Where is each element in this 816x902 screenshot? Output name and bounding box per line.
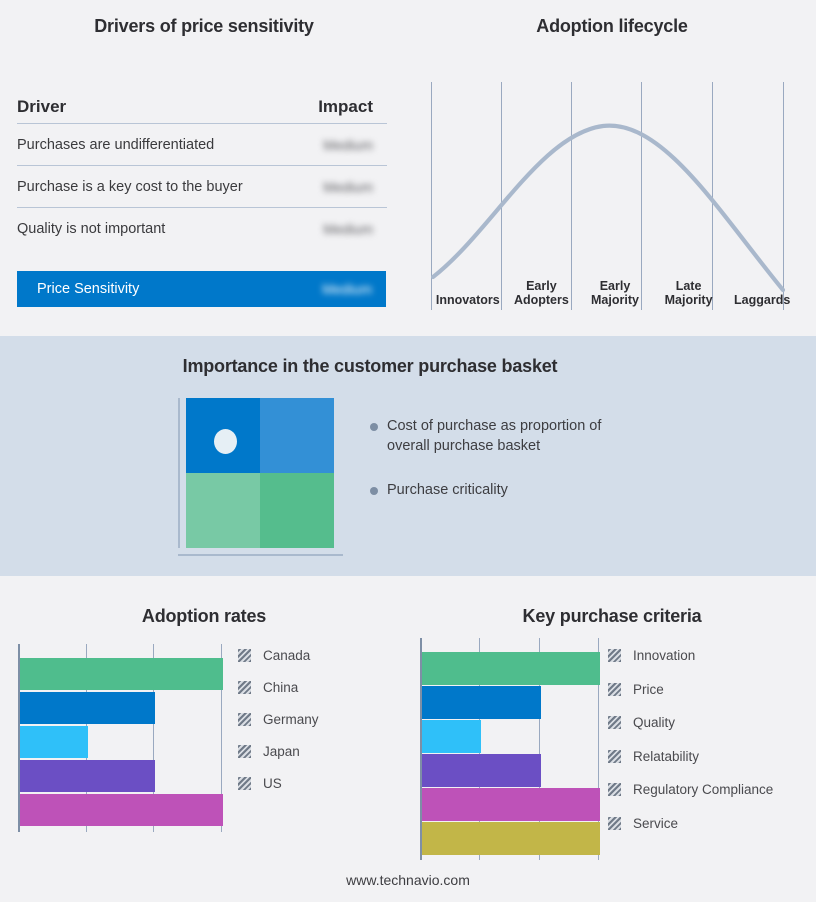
legend-item: Canada — [238, 648, 310, 663]
adoption-rates-title: Adoption rates — [0, 606, 408, 627]
hatch-swatch-icon — [238, 649, 251, 662]
segment-label-innovators: Innovators — [431, 253, 505, 309]
bullet-icon — [370, 423, 378, 431]
bullet-icon — [370, 487, 378, 495]
legend-item: Purchase criticality — [370, 480, 670, 500]
driver-label: Quality is not important — [17, 221, 165, 237]
adoption-rates-chart — [18, 644, 224, 832]
bar-relatability — [422, 754, 541, 787]
legend-label: Cost of purchase as proportion of overal… — [387, 416, 639, 456]
drivers-panel: Drivers of price sensitivity Driver Impa… — [0, 0, 408, 336]
bar-regulatory-compliance — [422, 788, 600, 821]
purchase-basket-title: Importance in the customer purchase bask… — [0, 356, 740, 377]
legend-label: Relatability — [633, 749, 699, 764]
bar-service — [422, 822, 600, 855]
quadrant-top-right — [260, 398, 334, 473]
legend-label: Canada — [263, 648, 310, 663]
legend-label: China — [263, 680, 298, 695]
bar-innovation — [422, 652, 600, 685]
adoption-lifecycle-title: Adoption lifecycle — [408, 16, 816, 37]
bar-germany — [20, 726, 88, 758]
driver-label: Purchases are undifferentiated — [17, 137, 214, 153]
legend-item: Germany — [238, 712, 319, 727]
quadrant-matrix — [178, 398, 343, 565]
adoption-rates-legend: CanadaChinaGermanyJapanUS — [238, 648, 398, 828]
hatch-swatch-icon — [608, 750, 621, 763]
hatch-swatch-icon — [608, 683, 621, 696]
segment-label-early-majority: Early Majority — [578, 253, 652, 309]
hatch-swatch-icon — [608, 817, 621, 830]
legend-label: Service — [633, 816, 678, 831]
key-purchase-criteria-legend: InnovationPriceQualityRelatabilityRegula… — [608, 638, 808, 860]
legend-label: Germany — [263, 712, 319, 727]
hatch-swatch-icon — [238, 777, 251, 790]
legend-item: China — [238, 680, 298, 695]
column-header-impact: Impact — [318, 97, 387, 117]
legend-label: US — [263, 776, 282, 791]
segment-label-late-majority: Late Majority — [652, 253, 726, 309]
driver-label: Purchase is a key cost to the buyer — [17, 179, 243, 195]
legend-label: Quality — [633, 715, 675, 730]
quadrant-bottom-right — [260, 473, 334, 548]
price-sensitivity-summary-row: Price Sensitivity Medium — [17, 271, 386, 307]
key-purchase-criteria-chart — [420, 638, 600, 860]
adoption-lifecycle-panel: Adoption lifecycle Innovators Early Adop… — [408, 0, 816, 336]
hatch-swatch-icon — [608, 783, 621, 796]
bar-quality — [422, 720, 481, 753]
legend-item: Quality — [608, 715, 675, 730]
legend-item: Regulatory Compliance — [608, 782, 773, 797]
hatch-swatch-icon — [238, 745, 251, 758]
impact-value-obscured: Medium — [323, 137, 387, 153]
legend-label: Regulatory Compliance — [633, 782, 773, 797]
quadrant-grid — [186, 398, 334, 548]
hatch-swatch-icon — [608, 649, 621, 662]
legend-label: Japan — [263, 744, 300, 759]
hatch-swatch-icon — [238, 681, 251, 694]
legend-label: Innovation — [633, 648, 695, 663]
segment-label-laggards: Laggards — [725, 253, 799, 309]
drivers-title: Drivers of price sensitivity — [0, 16, 408, 37]
price-sensitivity-impact-obscured: Medium — [322, 281, 386, 297]
bar-japan — [20, 760, 155, 792]
table-row: Purchases are undifferentiated Medium — [17, 124, 387, 166]
position-marker-dot — [214, 429, 237, 454]
legend-item: Japan — [238, 744, 300, 759]
key-purchase-criteria-title: Key purchase criteria — [408, 606, 816, 627]
table-row: Quality is not important Medium — [17, 208, 387, 249]
legend-item: US — [238, 776, 282, 791]
bar-price — [422, 686, 541, 719]
legend-label: Purchase criticality — [387, 480, 508, 500]
footer-url: www.technavio.com — [0, 872, 816, 888]
price-sensitivity-label: Price Sensitivity — [17, 281, 139, 297]
table-row: Purchase is a key cost to the buyer Medi… — [17, 166, 387, 208]
infographic-page: Drivers of price sensitivity Driver Impa… — [0, 0, 816, 902]
impact-value-obscured: Medium — [323, 221, 387, 237]
legend-item: Relatability — [608, 749, 699, 764]
key-purchase-criteria-panel: Key purchase criteria InnovationPriceQua… — [408, 576, 816, 876]
column-header-driver: Driver — [17, 97, 66, 117]
legend-label: Price — [633, 682, 664, 697]
quadrant-bottom-left — [186, 473, 260, 548]
bar-canada — [20, 658, 223, 690]
adoption-lifecycle-segment-labels: Innovators Early Adopters Early Majority… — [431, 253, 799, 309]
impact-value-obscured: Medium — [323, 179, 387, 195]
matrix-y-axis — [178, 398, 180, 548]
hatch-swatch-icon — [608, 716, 621, 729]
bar-china — [20, 692, 155, 724]
segment-label-early-adopters: Early Adopters — [505, 253, 579, 309]
drivers-table: Driver Impact Purchases are undifferenti… — [17, 90, 387, 249]
legend-item: Service — [608, 816, 678, 831]
purchase-basket-legend: Cost of purchase as proportion of overal… — [370, 416, 670, 524]
legend-item: Innovation — [608, 648, 695, 663]
bar-us — [20, 794, 223, 826]
table-header-row: Driver Impact — [17, 90, 387, 124]
hatch-swatch-icon — [238, 713, 251, 726]
legend-item: Cost of purchase as proportion of overal… — [370, 416, 670, 456]
legend-item: Price — [608, 682, 664, 697]
quadrant-top-left — [186, 398, 260, 473]
matrix-x-axis — [178, 554, 343, 556]
adoption-rates-panel: Adoption rates CanadaChinaGermanyJapanUS — [0, 576, 408, 876]
